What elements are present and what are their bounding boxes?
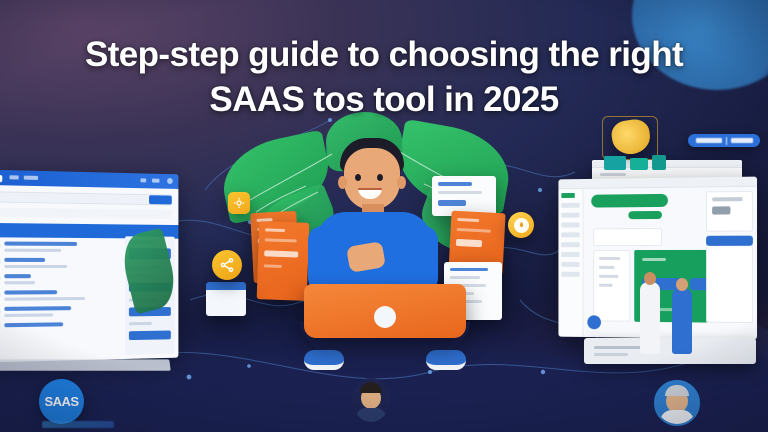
gear-glyph (233, 197, 245, 209)
right-dashboard-person-a (640, 282, 660, 354)
promo-banner: Step-step guide to choosing the right SA… (0, 0, 768, 432)
right-dashboard-right-rail[interactable] (706, 236, 753, 323)
pill-divider (726, 137, 727, 145)
left-nav-item-1[interactable] (9, 175, 18, 179)
sidebar-item[interactable] (561, 262, 579, 267)
character-eye-left (355, 174, 361, 181)
right-dashboard-hero-pill[interactable] (591, 194, 668, 208)
sidebar-item[interactable] (561, 252, 579, 257)
saas-brand-label: SAAS (44, 394, 78, 409)
right-dashboard-fab[interactable] (587, 315, 601, 329)
avatar-right-shirt (660, 410, 694, 424)
character-head (344, 148, 400, 210)
sidebar-item[interactable] (561, 222, 579, 227)
rocket-glyph (517, 221, 526, 230)
analytics-square-icon[interactable] (228, 192, 250, 214)
avatar-right[interactable] (654, 380, 700, 426)
sidebar-item[interactable] (561, 242, 579, 247)
seated-person-with-laptop (292, 126, 478, 376)
left-dashboard-logo (0, 175, 2, 182)
right-dashboard-stat-card[interactable] (706, 191, 753, 232)
teal-block-1 (604, 156, 626, 170)
left-dashboard-filter-bar[interactable] (0, 208, 172, 219)
character-ear-right (397, 176, 406, 189)
right-dashboard-footer-bar (584, 338, 756, 364)
avatar-center[interactable] (352, 378, 390, 422)
avatar-center-hair (360, 382, 382, 393)
title-line-1: Step-step guide to choosing the right (85, 35, 683, 74)
character-shoe-right (426, 350, 466, 370)
left-dashboard-stand (0, 359, 171, 370)
top-right-cta-pill[interactable] (688, 134, 760, 147)
sidebar-item[interactable] (561, 232, 579, 237)
sidebar-item-active[interactable] (561, 193, 574, 198)
right-dashboard-cta-button[interactable] (628, 211, 662, 219)
page-title: Step-step guide to choosing the right SA… (0, 33, 768, 123)
character-arm-right (410, 226, 438, 292)
right-dashboard-person-b (672, 288, 692, 354)
character-smile (358, 188, 382, 199)
left-nav-bell-icon[interactable] (140, 178, 146, 182)
sidebar-item[interactable] (561, 203, 579, 208)
side-card-cta-4[interactable] (129, 330, 171, 340)
right-dashboard-metric-row (593, 228, 662, 246)
pill-segment-1 (696, 138, 722, 143)
share-glyph (219, 257, 235, 273)
right-rail-cta[interactable] (706, 236, 753, 246)
right-dashboard-person-b-head (676, 278, 688, 291)
right-dashboard-topbar (558, 177, 757, 190)
saas-brand-badge[interactable]: SAAS (39, 379, 84, 424)
left-dashboard-search-input[interactable] (0, 191, 172, 205)
laptop-trackpad-dot (374, 306, 396, 328)
sidebar-item[interactable] (561, 213, 579, 218)
character-eye-right (377, 174, 383, 181)
share-network-icon[interactable] (212, 250, 242, 280)
brand-footnote (42, 421, 114, 428)
blue-card-left[interactable] (206, 282, 246, 316)
left-dashboard-primary-button[interactable] (149, 195, 172, 204)
title-line-2: SAAS tos tool in 2025 (34, 78, 734, 123)
pill-segment-2 (731, 138, 753, 143)
rocket-icon[interactable] (508, 212, 534, 238)
left-nav-help-icon[interactable] (152, 179, 160, 183)
avatar-center-shoulders (356, 408, 386, 422)
right-dashboard-person-a-head (644, 272, 656, 285)
teal-block-3 (652, 155, 666, 170)
character-ear-left (338, 176, 347, 189)
right-dashboard-list-card[interactable] (593, 250, 630, 322)
avatar-right-hair (665, 385, 689, 396)
right-dashboard-sidebar[interactable] (558, 189, 583, 337)
teal-block-2 (630, 158, 648, 170)
character-arm-left (308, 226, 336, 292)
left-nav-avatar[interactable] (167, 178, 173, 184)
left-nav-item-2[interactable] (24, 176, 38, 180)
character-shoe-left (304, 350, 344, 370)
sidebar-item[interactable] (561, 272, 579, 277)
